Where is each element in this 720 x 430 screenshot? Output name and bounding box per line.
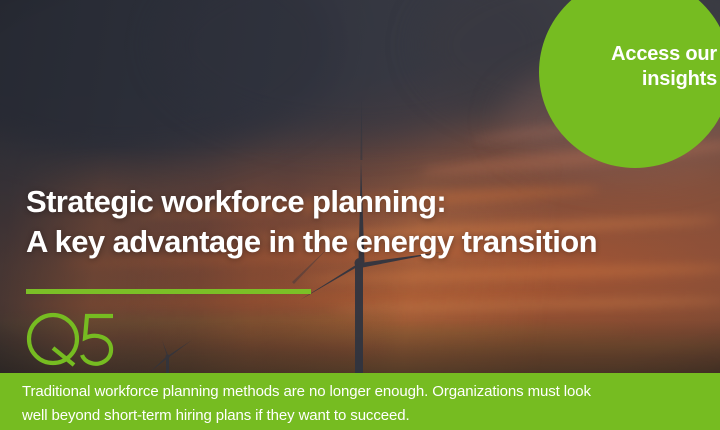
caption-line-2: well beyond short-term hiring plans if t… [22, 404, 706, 428]
badge-line-1: Access our [545, 42, 717, 67]
caption-bar: Traditional workforce planning methods a… [0, 373, 720, 430]
wind-turbine-mast-upper [360, 96, 362, 160]
headline-line-2: A key advantage in the energy transition [26, 222, 597, 262]
divider-rule [26, 289, 311, 294]
q5-logo-mark [26, 310, 122, 368]
headline: Strategic workforce planning: A key adva… [26, 182, 597, 262]
badge-text: Access our insights [545, 42, 717, 92]
promo-banner: Access our insights Strategic workforce … [0, 0, 720, 430]
caption-line-1: Traditional workforce planning methods a… [22, 380, 706, 404]
badge-line-2: insights [545, 67, 717, 92]
caption-text: Traditional workforce planning methods a… [22, 380, 706, 428]
q5-logo[interactable] [26, 310, 122, 373]
headline-line-1: Strategic workforce planning: [26, 182, 597, 222]
